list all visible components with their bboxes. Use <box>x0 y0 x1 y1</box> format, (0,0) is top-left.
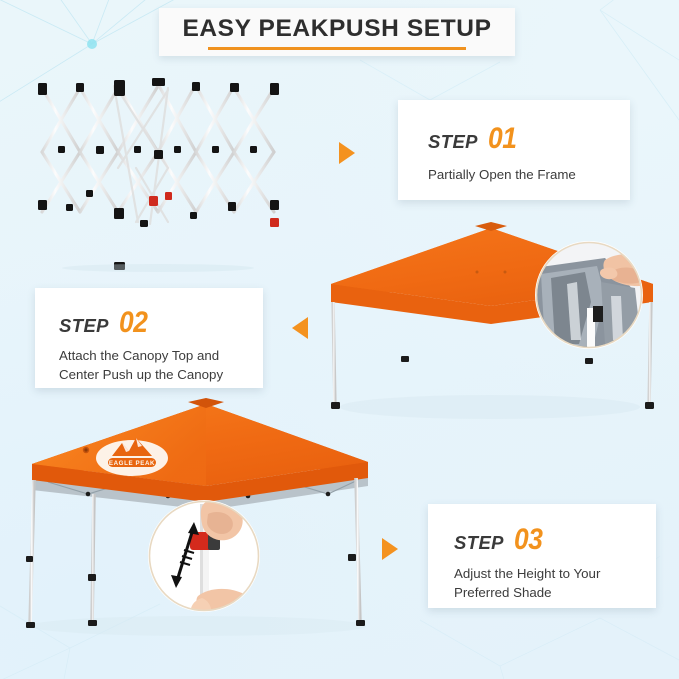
step-card-03: STEP 03 Adjust the Height to Your Prefer… <box>428 504 656 608</box>
step-label: STEP <box>454 532 504 554</box>
step-card-03-header: STEP 03 <box>454 523 656 557</box>
arrow-right-icon-step-01 <box>339 142 355 164</box>
step-card-03-description: Adjust the Height to Your Preferred Shad… <box>454 564 656 603</box>
step-number: 01 <box>488 122 516 156</box>
infographic-canvas: EASY PEAKPUSH SETUP <box>0 0 679 679</box>
orange-canopy-with-logo: EAGLE PEAK <box>8 398 400 638</box>
arrow-left-icon-step-02 <box>292 317 308 339</box>
step-card-01-description: Partially Open the Frame <box>428 165 630 184</box>
arrow-right-icon-step-03 <box>382 538 398 560</box>
hand-attaching-canopy-inset <box>533 241 655 352</box>
partially-opened-canopy-frame <box>18 72 318 272</box>
svg-text:EAGLE PEAK: EAGLE PEAK <box>109 460 155 467</box>
step-number: 02 <box>119 306 147 340</box>
step-card-01: STEP 01 Partially Open the Frame <box>398 100 630 200</box>
orange-canopy-no-logo <box>305 222 673 422</box>
step-label: STEP <box>59 315 109 337</box>
title-banner: EASY PEAKPUSH SETUP <box>159 8 515 56</box>
step-desc-line: Attach the Canopy Top and <box>59 346 263 365</box>
page-title: EASY PEAKPUSH SETUP <box>182 14 491 42</box>
step-card-02: STEP 02 Attach the Canopy Top and Center… <box>35 288 263 388</box>
step-card-01-header: STEP 01 <box>428 122 630 156</box>
step-card-02-description: Attach the Canopy Top and Center Push up… <box>59 346 263 385</box>
step-number: 03 <box>514 523 542 557</box>
step-desc-line: Center Push up the Canopy <box>59 365 263 384</box>
step-label: STEP <box>428 131 478 153</box>
step-desc-line: Partially Open the Frame <box>428 165 630 184</box>
title-underline <box>208 47 466 50</box>
step-card-02-header: STEP 02 <box>59 306 263 340</box>
step-desc-line: Adjust the Height to Your <box>454 564 656 583</box>
step-desc-line: Preferred Shade <box>454 583 656 602</box>
hand-adjusting-height-inset <box>148 500 262 624</box>
